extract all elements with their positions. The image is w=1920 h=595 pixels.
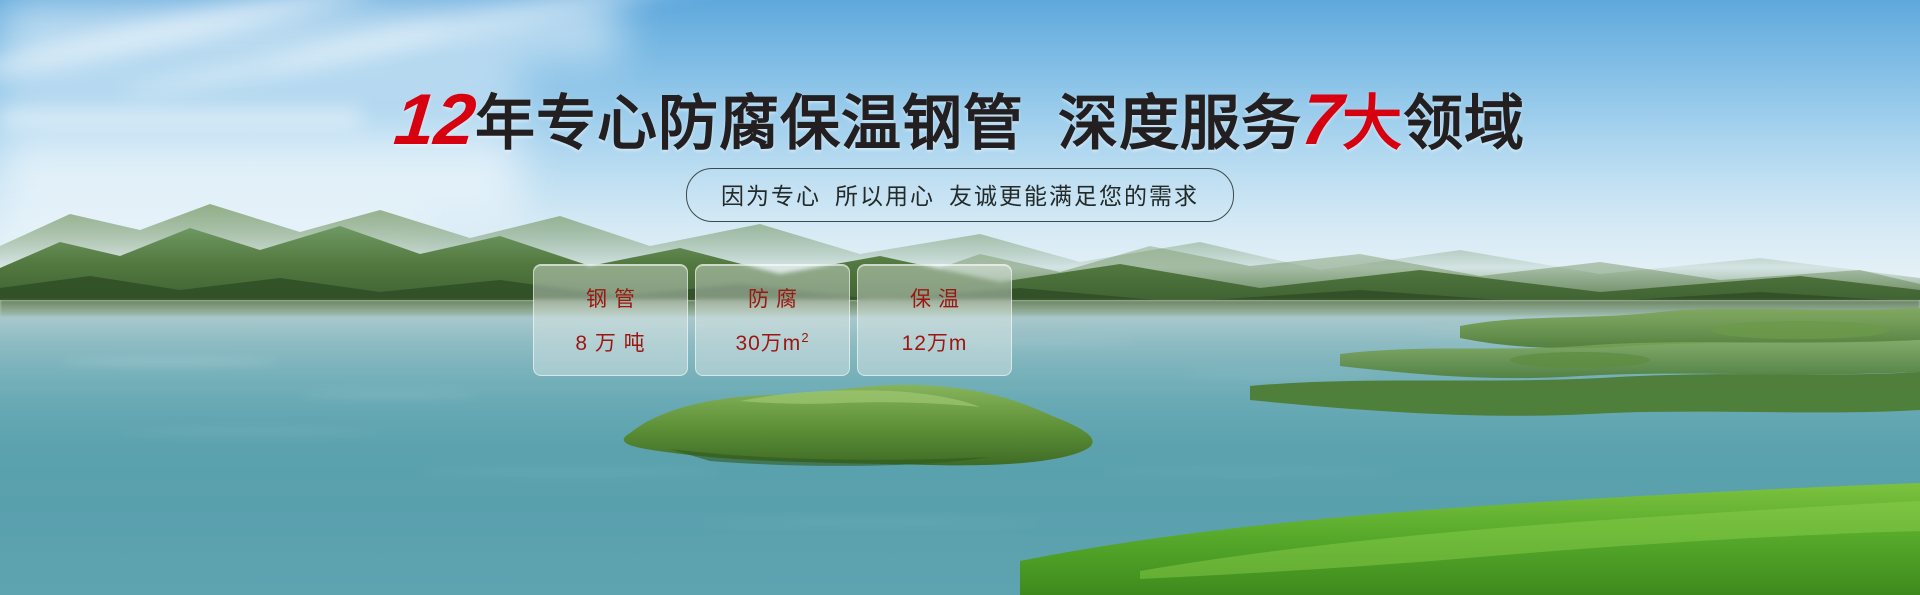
marsh-area [1160,300,1920,430]
stat-value: 12万m [902,327,968,357]
headline-part4: 领域 [1403,90,1525,157]
cloud-blob [0,0,620,60]
foreground-grass [1020,475,1920,595]
stat-value: 8 万 吨 [575,327,645,357]
stat-label: 防腐 [741,283,804,313]
stat-card-insulation[interactable]: 保温 12万m [857,264,1012,376]
headline-years-number: 12 [391,83,479,159]
grass-island [590,375,1150,480]
stat-value: 30万m2 [735,327,809,357]
stat-value-text: 8 万 吨 [575,332,645,355]
subtitle-segment-3: 友诚更能满足您的需求 [949,183,1199,209]
banner-stage: 12年专心防腐保温钢管深度服务7大领域 因为专心所以用心友诚更能满足您的需求 钢… [0,0,1920,595]
page-title: 12年专心防腐保温钢管深度服务7大领域 [0,83,1920,159]
stat-label: 保温 [903,283,966,313]
stat-value-superscript: 2 [801,330,809,345]
stat-value-text: 30万m [735,332,801,355]
stat-value-text: 12万m [902,332,968,355]
subtitle-segment-2: 所以用心 [835,183,935,209]
subtitle-pill: 因为专心所以用心友诚更能满足您的需求 [686,168,1234,222]
headline-part3: 大 [1342,90,1403,157]
stat-card-anticorrosion[interactable]: 防腐 30万m2 [695,264,850,376]
headline-fields-number: 7 [1298,83,1346,159]
headline-part1: 年专心防腐保温钢管 [475,90,1024,157]
stats-card-group: 钢管 8 万 吨 防腐 30万m2 保温 12万m [533,264,1012,376]
subtitle-wrapper: 因为专心所以用心友诚更能满足您的需求 [0,168,1920,222]
subtitle-segment-1: 因为专心 [721,183,821,209]
stat-label: 钢管 [579,283,642,313]
headline-part2: 深度服务 [1058,90,1302,157]
stat-card-steel-pipe[interactable]: 钢管 8 万 吨 [533,264,688,376]
